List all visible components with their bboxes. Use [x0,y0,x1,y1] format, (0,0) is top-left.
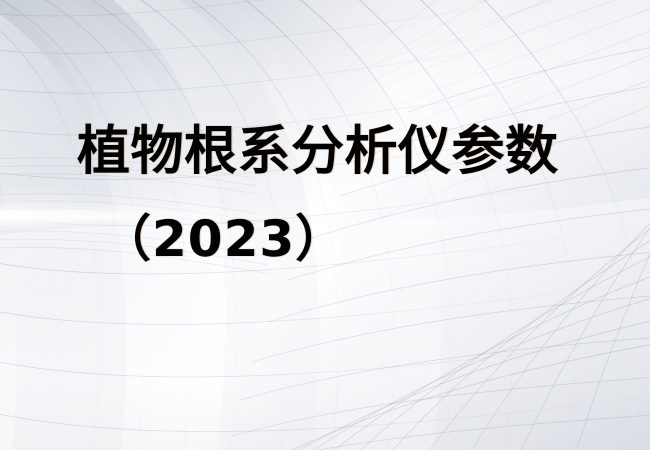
title-slide: 植物根系分析仪参数 （2023） [0,0,650,450]
page-title: 植物根系分析仪参数 [77,122,559,181]
title-block: 植物根系分析仪参数 （2023） [0,0,650,450]
page-subtitle-year: （2023） [101,211,346,267]
